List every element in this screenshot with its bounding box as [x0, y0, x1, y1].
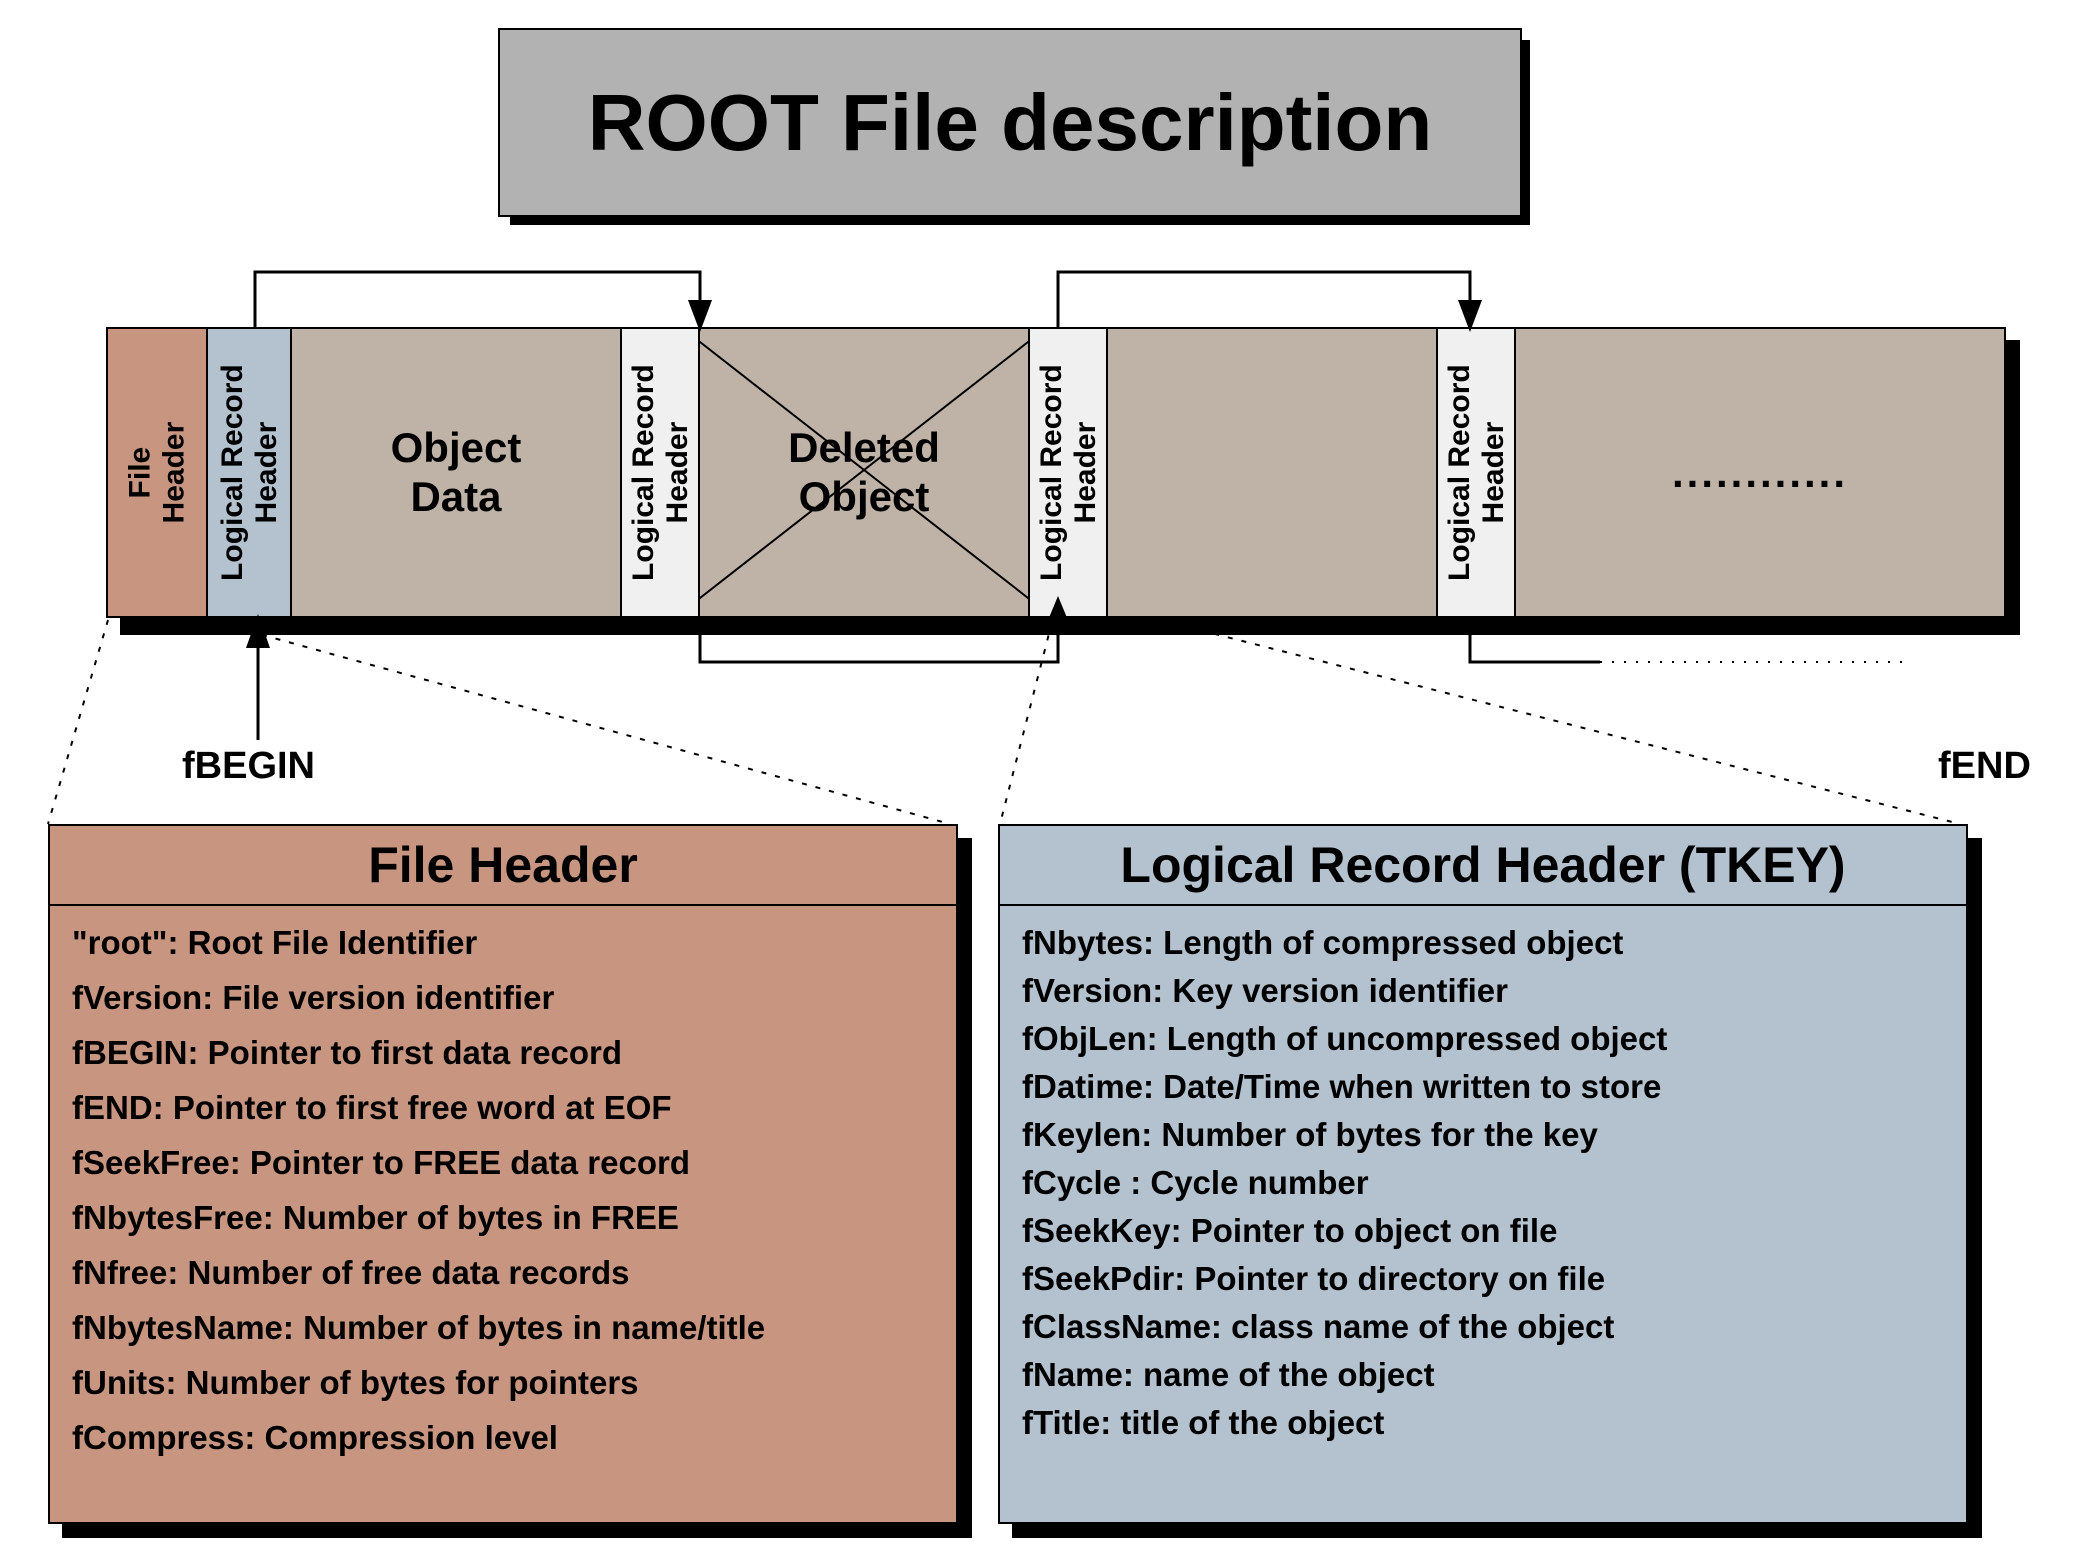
logical-record-header-panel: Logical Record Header (TKEY) fNbytes: Le…	[998, 824, 1968, 1524]
bar-segment-lrh-2: Logical RecordHeader	[622, 329, 700, 616]
list-item: fSeekPdir: Pointer to directory on file	[1022, 1260, 1944, 1298]
bar-segment-trailing-records: ............	[1516, 329, 2004, 616]
list-item: fSeekFree: Pointer to FREE data record	[72, 1144, 934, 1182]
logical-record-header-panel-title: Logical Record Header (TKEY)	[1120, 836, 1845, 894]
list-item: fClassName: class name of the object	[1022, 1308, 1944, 1346]
list-item: fCompress: Compression level	[72, 1419, 934, 1457]
bar-segment-label: FileHeader	[123, 422, 190, 524]
list-item: fName: name of the object	[1022, 1356, 1944, 1394]
list-item: fNbytesName: Number of bytes in name/tit…	[72, 1309, 934, 1347]
fend-label: fEND	[1938, 745, 2031, 788]
leader-file-header	[48, 620, 950, 824]
file-header-panel-title: File Header	[368, 836, 638, 894]
list-item: fNbytesFree: Number of bytes in FREE	[72, 1199, 934, 1237]
bar-segment-label: Logical RecordHeader	[215, 364, 282, 581]
list-item: fVersion: Key version identifier	[1022, 972, 1944, 1010]
fbegin-label: fBEGIN	[182, 745, 315, 788]
list-item: fObjLen: Length of uncompressed object	[1022, 1020, 1944, 1058]
list-item: fVersion: File version identifier	[72, 979, 934, 1017]
bar-segment-label: ............	[1672, 449, 1848, 497]
list-item: fNfree: Number of free data records	[72, 1254, 934, 1292]
bar-segment-label: ObjectData	[391, 424, 522, 521]
title-box: ROOT File description	[498, 28, 1522, 217]
bar-segment-lrh-3: Logical RecordHeader	[1030, 329, 1108, 616]
list-item: fSeekKey: Pointer to object on file	[1022, 1212, 1944, 1250]
bar-segment-record-data-3	[1108, 329, 1438, 616]
list-item: fBEGIN: Pointer to first data record	[72, 1034, 934, 1072]
list-item: fTitle: title of the object	[1022, 1404, 1944, 1442]
bar-segment-object-data: ObjectData	[292, 329, 622, 616]
page-title: ROOT File description	[588, 77, 1433, 169]
bar-segment-deleted-object: DeletedObject	[700, 329, 1030, 616]
bar-segment-file-header: FileHeader	[108, 329, 208, 616]
logical-record-header-panel-header: Logical Record Header (TKEY)	[1000, 826, 1966, 906]
list-item: fKeylen: Number of bytes for the key	[1022, 1116, 1944, 1154]
bar-segment-lrh-1: Logical RecordHeader	[208, 329, 292, 616]
list-item: "root": Root File Identifier	[72, 924, 934, 962]
list-item: fNbytes: Length of compressed object	[1022, 924, 1944, 962]
file-header-panel-header: File Header	[50, 826, 956, 906]
logical-record-header-panel-body: fNbytes: Length of compressed object fVe…	[1000, 906, 1966, 1462]
bar-segment-label: Logical RecordHeader	[1442, 364, 1509, 581]
bar-segment-label: Logical RecordHeader	[1034, 364, 1101, 581]
file-layout-bar: FileHeader Logical RecordHeader ObjectDa…	[106, 327, 2006, 618]
file-header-panel: File Header "root": Root File Identifier…	[48, 824, 958, 1524]
list-item: fCycle : Cycle number	[1022, 1164, 1944, 1202]
bracket-lrh3-to-lrh4	[1058, 272, 1482, 332]
list-item: fUnits: Number of bytes for pointers	[72, 1364, 934, 1402]
bracket-lrh1-to-lrh2	[255, 272, 712, 332]
leader-logical-record-header	[1000, 620, 1960, 824]
list-item: fDatime: Date/Time when written to store	[1022, 1068, 1944, 1106]
bar-segment-label: Logical RecordHeader	[626, 364, 693, 581]
bar-segment-label: DeletedObject	[788, 424, 940, 521]
list-item: fEND: Pointer to first free word at EOF	[72, 1089, 934, 1127]
file-header-panel-body: "root": Root File Identifier fVersion: F…	[50, 906, 956, 1484]
bar-segment-lrh-4: Logical RecordHeader	[1438, 329, 1516, 616]
